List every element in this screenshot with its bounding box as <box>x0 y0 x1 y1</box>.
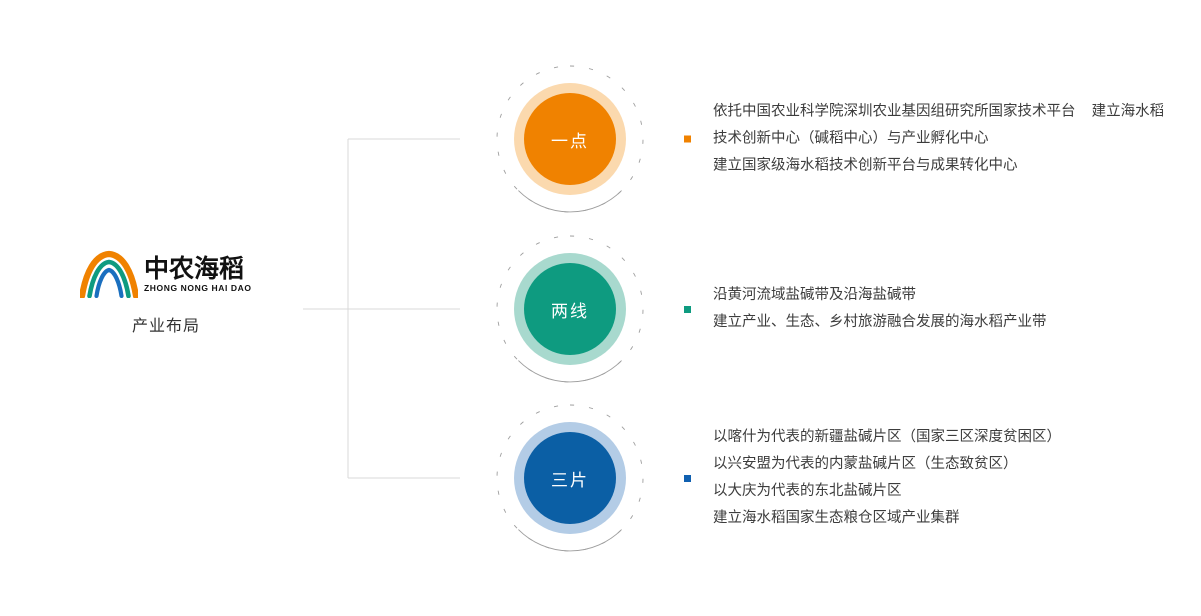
node-one-point[interactable]: 一点 <box>495 64 645 214</box>
detail-line: 以兴安盟为代表的内蒙盐碱片区（生态致贫区） <box>713 451 1061 478</box>
detail-lines: 以喀什为代表的新疆盐碱片区（国家三区深度贫困区） 以兴安盟为代表的内蒙盐碱片区（… <box>713 424 1061 532</box>
page-title: 产业布局 <box>80 312 252 336</box>
mountain-wave-logo-icon <box>80 250 138 298</box>
detail-block-three-areas: 以喀什为代表的新疆盐碱片区（国家三区深度贫困区） 以兴安盟为代表的内蒙盐碱片区（… <box>684 424 1061 532</box>
detail-line: 以大庆为代表的东北盐碱片区 <box>713 478 1061 505</box>
node-label-two-lines: 两线 <box>524 263 616 355</box>
slide-canvas: 中农海稻 ZHONG NONG HAI DAO 产业布局 一点 两线 <box>0 0 1201 616</box>
brand-name-cn: 中农海稻 <box>144 255 252 283</box>
brand-block: 中农海稻 ZHONG NONG HAI DAO 产业布局 <box>80 248 270 336</box>
brand-lockup: 中农海稻 ZHONG NONG HAI DAO <box>80 248 270 300</box>
detail-line: 建立产业、生态、乡村旅游融合发展的海水稻产业带 <box>713 309 1047 336</box>
detail-line: 沿黄河流域盐碱带及沿海盐碱带 <box>713 282 1047 309</box>
bullet-square-icon <box>684 306 691 313</box>
bullet-square-icon <box>684 136 691 143</box>
node-label-three-areas: 三片 <box>524 432 616 524</box>
brand-name-en: ZHONG NONG HAI DAO <box>144 283 252 294</box>
detail-block-one-point: 依托中国农业科学院深圳农业基因组研究所国家技术平台 建立海水稻 技术创新中心（碱… <box>684 99 1164 180</box>
node-label-one-point: 一点 <box>524 93 616 185</box>
node-two-lines[interactable]: 两线 <box>495 234 645 384</box>
detail-lines: 沿黄河流域盐碱带及沿海盐碱带 建立产业、生态、乡村旅游融合发展的海水稻产业带 <box>713 282 1047 336</box>
node-three-areas[interactable]: 三片 <box>495 403 645 553</box>
brand-wordmark: 中农海稻 ZHONG NONG HAI DAO <box>144 255 252 294</box>
detail-line: 以喀什为代表的新疆盐碱片区（国家三区深度贫困区） <box>713 424 1061 451</box>
detail-line: 建立国家级海水稻技术创新平台与成果转化中心 <box>713 153 1164 180</box>
detail-lines: 依托中国农业科学院深圳农业基因组研究所国家技术平台 建立海水稻 技术创新中心（碱… <box>713 99 1164 180</box>
detail-line: 依托中国农业科学院深圳农业基因组研究所国家技术平台 建立海水稻 <box>713 99 1164 126</box>
detail-line: 建立海水稻国家生态粮仓区域产业集群 <box>713 505 1061 532</box>
detail-line: 技术创新中心（碱稻中心）与产业孵化中心 <box>713 126 1164 153</box>
bullet-square-icon <box>684 475 691 482</box>
detail-block-two-lines: 沿黄河流域盐碱带及沿海盐碱带 建立产业、生态、乡村旅游融合发展的海水稻产业带 <box>684 282 1047 336</box>
